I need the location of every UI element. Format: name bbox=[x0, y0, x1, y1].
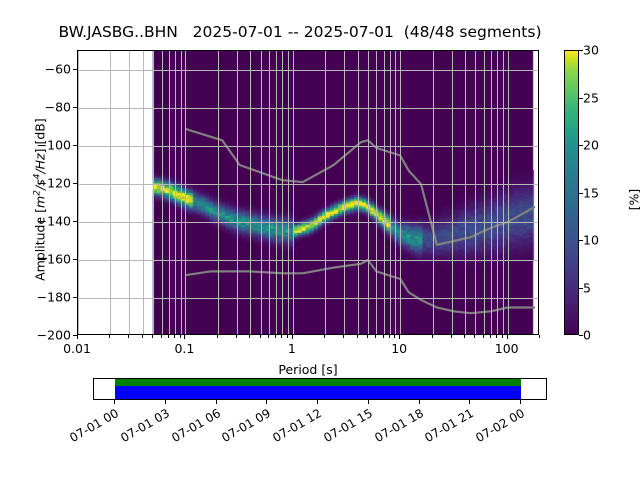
x-tick bbox=[77, 335, 78, 339]
x-tick bbox=[399, 335, 400, 339]
x-tick bbox=[260, 335, 261, 338]
ppsd-plot-axes[interactable] bbox=[77, 50, 539, 335]
x-tick bbox=[142, 335, 143, 338]
y-tick bbox=[73, 145, 77, 146]
gridline-h bbox=[78, 146, 538, 147]
x-tick bbox=[432, 335, 433, 338]
gridline-v bbox=[325, 51, 326, 334]
timeline-bar-blue bbox=[115, 386, 521, 399]
gridline-v bbox=[390, 51, 391, 334]
gridline-v bbox=[503, 51, 504, 334]
gridline-v bbox=[452, 51, 453, 334]
y-tick-label: −60 bbox=[27, 62, 71, 77]
x-tick bbox=[490, 335, 491, 338]
x-tick bbox=[451, 335, 452, 338]
gridline-v bbox=[276, 51, 277, 334]
colorbar bbox=[564, 50, 579, 335]
y-tick bbox=[73, 259, 77, 260]
timeline-tick bbox=[165, 400, 166, 404]
y-tick bbox=[73, 183, 77, 184]
timeline-tick-label: 07-01 18 bbox=[365, 406, 426, 449]
x-tick bbox=[464, 335, 465, 338]
x-tick bbox=[184, 335, 185, 339]
ppsd-axes-clip bbox=[78, 51, 538, 334]
timeline-tick-label: 07-01 09 bbox=[213, 406, 274, 449]
timeline-tick bbox=[114, 400, 115, 404]
gridline-v bbox=[497, 51, 498, 334]
gridline-h bbox=[78, 70, 538, 71]
gridline-h bbox=[78, 108, 538, 109]
timeline-tick-label: 07-01 06 bbox=[162, 406, 223, 449]
gridline-v bbox=[143, 51, 144, 334]
x-tick bbox=[161, 335, 162, 338]
x-tick bbox=[275, 335, 276, 338]
gridline-v bbox=[162, 51, 163, 334]
x-tick bbox=[217, 335, 218, 338]
gridline-v bbox=[475, 51, 476, 334]
x-tick bbox=[168, 335, 169, 338]
gridline-v bbox=[269, 51, 270, 334]
noise-model-overlay bbox=[78, 51, 538, 334]
x-tick bbox=[483, 335, 484, 338]
gridline-v bbox=[358, 51, 359, 334]
gridline-h bbox=[78, 298, 538, 299]
gridline-v bbox=[78, 51, 79, 334]
gridline-v bbox=[175, 51, 176, 334]
timeline-tick bbox=[419, 400, 420, 404]
x-tick-label: 10 bbox=[391, 341, 407, 356]
x-tick bbox=[394, 335, 395, 338]
gridline-v bbox=[344, 51, 345, 334]
x-tick-label: 0.1 bbox=[174, 341, 194, 356]
x-tick bbox=[389, 335, 390, 338]
x-tick bbox=[367, 335, 368, 338]
timeline-tick-label: 07-01 21 bbox=[416, 406, 477, 449]
y-tick-label: −200 bbox=[27, 328, 71, 343]
data-coverage-timeline[interactable] bbox=[93, 378, 547, 400]
x-tick bbox=[109, 335, 110, 338]
colorbar-tick-label: 5 bbox=[583, 280, 591, 295]
colorbar-tick-label: 20 bbox=[583, 138, 599, 153]
colorbar-tick-label: 30 bbox=[583, 43, 599, 58]
gridline-v bbox=[129, 51, 130, 334]
x-tick bbox=[343, 335, 344, 338]
x-tick bbox=[507, 335, 508, 339]
timeline-tick bbox=[368, 400, 369, 404]
gridline-v bbox=[237, 51, 238, 334]
x-tick-label: 1 bbox=[288, 341, 296, 356]
gridline-v bbox=[261, 51, 262, 334]
x-tick bbox=[268, 335, 269, 338]
gridline-v bbox=[395, 51, 396, 334]
x-tick-label: 100 bbox=[495, 341, 519, 356]
page-title: BW.JASBG..BHN 2025-07-01 -- 2025-07-01 (… bbox=[0, 23, 600, 41]
timeline-bar-green bbox=[115, 379, 521, 386]
colorbar-tick-label: 0 bbox=[583, 328, 591, 343]
gridline-v bbox=[491, 51, 492, 334]
y-tick bbox=[73, 221, 77, 222]
gridline-v bbox=[293, 51, 294, 334]
timeline-tick bbox=[520, 400, 521, 404]
timeline-tick bbox=[266, 400, 267, 404]
gridline-v bbox=[400, 51, 401, 334]
y-tick bbox=[73, 107, 77, 108]
y-tick bbox=[73, 69, 77, 70]
gridline-h bbox=[78, 222, 538, 223]
colorbar-tick-label: 15 bbox=[583, 185, 599, 200]
x-axis-label: Period [s] bbox=[77, 362, 539, 377]
y-tick bbox=[73, 297, 77, 298]
x-tick bbox=[174, 335, 175, 338]
gridline-v bbox=[384, 51, 385, 334]
gridline-h bbox=[78, 184, 538, 185]
gridline-v bbox=[376, 51, 377, 334]
colorbar-label: [%] bbox=[627, 140, 640, 260]
y-axis-label: Amplitude [m2/s4/Hz] [dB] bbox=[32, 80, 47, 320]
gridline-v bbox=[181, 51, 182, 334]
timeline-tick bbox=[317, 400, 318, 404]
figure-canvas: BW.JASBG..BHN 2025-07-01 -- 2025-07-01 (… bbox=[0, 0, 640, 480]
x-tick bbox=[287, 335, 288, 338]
gridline-h bbox=[78, 260, 538, 261]
gridline-v bbox=[250, 51, 251, 334]
x-tick bbox=[128, 335, 129, 338]
timeline-tick-label: 07-01 00 bbox=[60, 406, 121, 449]
x-tick bbox=[249, 335, 250, 338]
timeline-tick bbox=[469, 400, 470, 404]
gridline-v bbox=[169, 51, 170, 334]
timeline-tick-label: 07-01 12 bbox=[263, 406, 324, 449]
y-tick bbox=[73, 335, 77, 336]
gridline-v bbox=[153, 51, 154, 334]
colorbar-tick-label: 10 bbox=[583, 233, 599, 248]
gridline-v bbox=[218, 51, 219, 334]
colorbar-tick-label: 25 bbox=[583, 90, 599, 105]
x-tick bbox=[281, 335, 282, 338]
gridline-v bbox=[433, 51, 434, 334]
gridline-v bbox=[185, 51, 186, 334]
x-tick bbox=[383, 335, 384, 338]
x-tick bbox=[357, 335, 358, 338]
x-tick bbox=[236, 335, 237, 338]
gridline-v bbox=[282, 51, 283, 334]
gridline-v bbox=[484, 51, 485, 334]
gridline-v bbox=[110, 51, 111, 334]
x-tick bbox=[152, 335, 153, 338]
x-tick bbox=[180, 335, 181, 338]
gridline-v bbox=[508, 51, 509, 334]
gridline-v bbox=[465, 51, 466, 334]
x-tick bbox=[496, 335, 497, 338]
timeline-tick-label: 07-02 00 bbox=[466, 406, 527, 449]
gridline-v bbox=[288, 51, 289, 334]
gridline-v bbox=[368, 51, 369, 334]
x-tick bbox=[324, 335, 325, 338]
x-tick bbox=[474, 335, 475, 338]
x-tick bbox=[539, 335, 540, 338]
x-tick-label: 0.01 bbox=[63, 341, 91, 356]
timeline-tick-label: 07-01 15 bbox=[314, 406, 375, 449]
timeline-tick-label: 07-01 03 bbox=[111, 406, 172, 449]
x-tick bbox=[292, 335, 293, 339]
x-tick bbox=[375, 335, 376, 338]
noise-model-nlnm bbox=[185, 260, 535, 313]
timeline-tick bbox=[216, 400, 217, 404]
x-tick bbox=[502, 335, 503, 338]
